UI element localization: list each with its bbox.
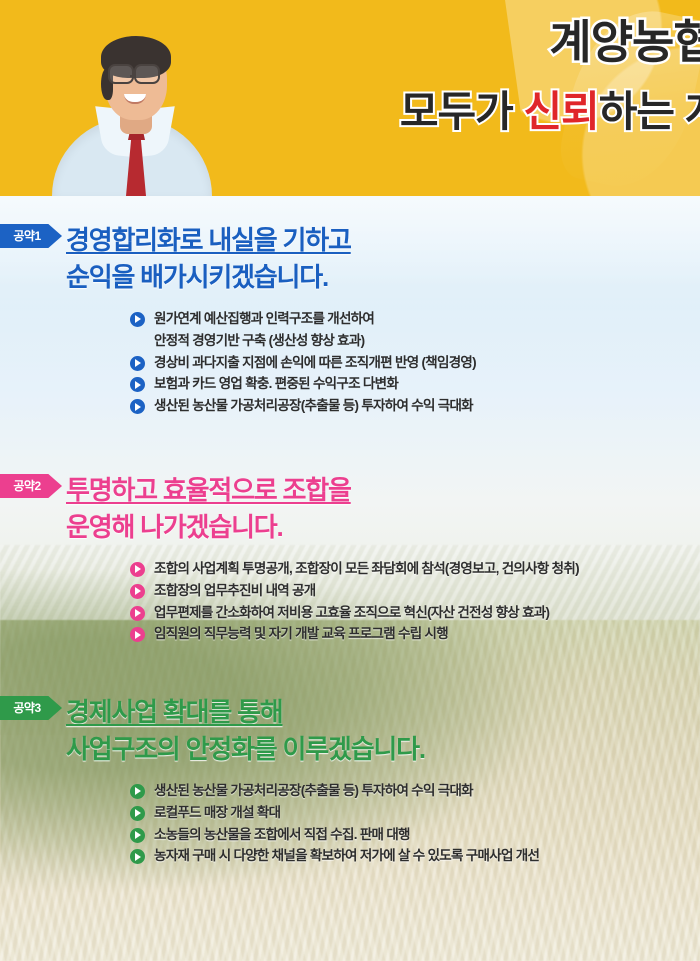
poster-header: 계양농협의 모두가 신뢰하는 계양 <box>0 0 700 196</box>
arrow-right-circle-icon <box>130 399 145 414</box>
pledge-1-point-1-text: 원가연계 예산집행과 인력구조를 개선하여 <box>154 311 374 326</box>
pledge-3-point-2-text: 로컬푸드 매장 개설 확대 <box>154 805 280 820</box>
pledge-3-point-4-text: 농자재 구매 시 다양한 채널을 확보하여 저가에 살 수 있도록 구매사업 개… <box>154 848 539 863</box>
pledge-3-point-3-text: 소농들의 농산물을 조합에서 직접 수집. 판매 대행 <box>154 827 410 842</box>
headline-line-2-highlight: 신뢰 <box>523 88 598 135</box>
pledge-2-point-1-text: 조합의 사업계획 투명공개, 조합장이 모든 좌담회에 참석(경영보고, 건의사… <box>154 561 579 576</box>
pledge-3-point-list: 생산된 농산물 가공처리공장(추출물 등) 투자하여 수익 극대화 로컬푸드 매… <box>0 780 700 867</box>
pledge-2-point-1: 조합의 사업계획 투명공개, 조합장이 모든 좌담회에 참석(경영보고, 건의사… <box>0 558 700 580</box>
pledge-1-title: 경영합리화로 내실을 기하고 순익을 배가시키겠습니다. <box>66 222 700 296</box>
headline-line-1: 계양농협의 <box>240 14 700 72</box>
pledge-2-title-line-2: 운영해 나가겠습니다. <box>66 509 700 546</box>
pledge-3-point-2: 로컬푸드 매장 개설 확대 <box>0 802 700 824</box>
pledge-2-point-list: 조합의 사업계획 투명공개, 조합장이 모든 좌담회에 참석(경영보고, 건의사… <box>0 558 700 645</box>
arrow-right-circle-icon <box>130 377 145 392</box>
poster-headline: 계양농협의 모두가 신뢰하는 계양 <box>240 14 700 138</box>
pledge-2-point-2-text: 조합장의 업무추진비 내역 공개 <box>154 583 316 598</box>
pledge-1-headline: 공약1 경영합리화로 내실을 기하고 순익을 배가시키겠습니다. <box>0 222 700 296</box>
pledge-section-3: 공약3 경제사업 확대를 통해 사업구조의 안정화를 이루겠습니다. 생산된 농… <box>0 694 700 867</box>
pledge-2-headline: 공약2 투명하고 효율적으로 조합을 운영해 나가겠습니다. <box>0 472 700 546</box>
arrow-right-circle-icon <box>130 784 145 799</box>
pledge-1-point-1: 원가연계 예산집행과 인력구조를 개선하여 <box>0 308 700 330</box>
pledge-2-badge: 공약2 <box>0 474 62 498</box>
pledge-1-point-1-continuation: 안정적 경영기반 구축 (생산성 향상 효과) <box>0 330 700 352</box>
pledge-3-point-3: 소농들의 농산물을 조합에서 직접 수집. 판매 대행 <box>0 824 700 846</box>
headline-line-2-prefix: 모두가 <box>400 88 524 135</box>
pledge-1-point-2: 경상비 과다지출 지점에 손익에 따른 조직개편 반영 (책임경영) <box>0 352 700 374</box>
pledge-3-title-line-1: 경제사업 확대를 통해 <box>66 694 700 731</box>
pledge-section-1: 공약1 경영합리화로 내실을 기하고 순익을 배가시키겠습니다. 원가연계 예산… <box>0 222 700 417</box>
pledge-3-title-line-2: 사업구조의 안정화를 이루겠습니다. <box>66 731 700 768</box>
arrow-right-circle-icon <box>130 356 145 371</box>
pledge-3-title: 경제사업 확대를 통해 사업구조의 안정화를 이루겠습니다. <box>66 694 700 768</box>
pledge-2-title-line-1: 투명하고 효율적으로 조합을 <box>66 472 700 509</box>
arrow-right-circle-icon <box>130 627 145 642</box>
candidate-portrait <box>48 6 216 196</box>
pledge-1-title-line-2: 순익을 배가시키겠습니다. <box>66 259 700 296</box>
pledge-1-point-4: 생산된 농산물 가공처리공장(추출물 등) 투자하여 수익 극대화 <box>0 395 700 417</box>
pledge-3-point-1: 생산된 농산물 가공처리공장(추출물 등) 투자하여 수익 극대화 <box>0 780 700 802</box>
pledge-1-point-3-text: 보험과 카드 영업 확충. 편중된 수익구조 다변화 <box>154 376 398 391</box>
pledge-1-point-list: 원가연계 예산집행과 인력구조를 개선하여 안정적 경영기반 구축 (생산성 향… <box>0 308 700 417</box>
arrow-right-circle-icon <box>130 849 145 864</box>
pledge-3-point-4: 농자재 구매 시 다양한 채널을 확보하여 저가에 살 수 있도록 구매사업 개… <box>0 845 700 867</box>
pledge-2-point-4-text: 임직원의 직무능력 및 자기 개발 교육 프로그램 수립 시행 <box>154 626 448 641</box>
pledge-3-point-1-text: 생산된 농산물 가공처리공장(추출물 등) 투자하여 수익 극대화 <box>154 783 473 798</box>
arrow-right-circle-icon <box>130 562 145 577</box>
pledge-2-title: 투명하고 효율적으로 조합을 운영해 나가겠습니다. <box>66 472 700 546</box>
pledge-2-point-3-text: 업무편제를 간소화하여 저비용 고효율 조직으로 혁신(자산 건전성 향상 효과… <box>154 605 549 620</box>
portrait-glasses-right-lens <box>134 64 160 84</box>
portrait-glasses-bridge <box>130 75 136 77</box>
headline-line-2: 모두가 신뢰하는 계양 <box>240 86 700 139</box>
pledge-2-point-2: 조합장의 업무추진비 내역 공개 <box>0 580 700 602</box>
pledge-3-badge: 공약3 <box>0 696 62 720</box>
pledge-2-point-3: 업무편제를 간소화하여 저비용 고효율 조직으로 혁신(자산 건전성 향상 효과… <box>0 602 700 624</box>
pledge-1-title-line-1: 경영합리화로 내실을 기하고 <box>66 222 700 259</box>
arrow-right-circle-icon <box>130 584 145 599</box>
arrow-right-circle-icon <box>130 606 145 621</box>
headline-line-2-suffix: 하는 계양 <box>599 88 700 135</box>
arrow-right-circle-icon <box>130 806 145 821</box>
pledge-3-headline: 공약3 경제사업 확대를 통해 사업구조의 안정화를 이루겠습니다. <box>0 694 700 768</box>
arrow-right-circle-icon <box>130 828 145 843</box>
pledge-1-point-3: 보험과 카드 영업 확충. 편중된 수익구조 다변화 <box>0 373 700 395</box>
pledge-1-badge: 공약1 <box>0 224 62 248</box>
arrow-right-circle-icon <box>130 312 145 327</box>
pledge-1-point-2-text: 경상비 과다지출 지점에 손익에 따른 조직개편 반영 (책임경영) <box>154 355 476 370</box>
pledge-section-2: 공약2 투명하고 효율적으로 조합을 운영해 나가겠습니다. 조합의 사업계획 … <box>0 472 700 645</box>
campaign-pledge-poster: 계양농협의 모두가 신뢰하는 계양 공약1 경영합리화로 내실을 기하고 순익을… <box>0 0 700 961</box>
pledge-1-point-4-text: 생산된 농산물 가공처리공장(추출물 등) 투자하여 수익 극대화 <box>154 398 473 413</box>
pledge-2-point-4: 임직원의 직무능력 및 자기 개발 교육 프로그램 수립 시행 <box>0 623 700 645</box>
portrait-glasses-left-lens <box>108 64 134 84</box>
